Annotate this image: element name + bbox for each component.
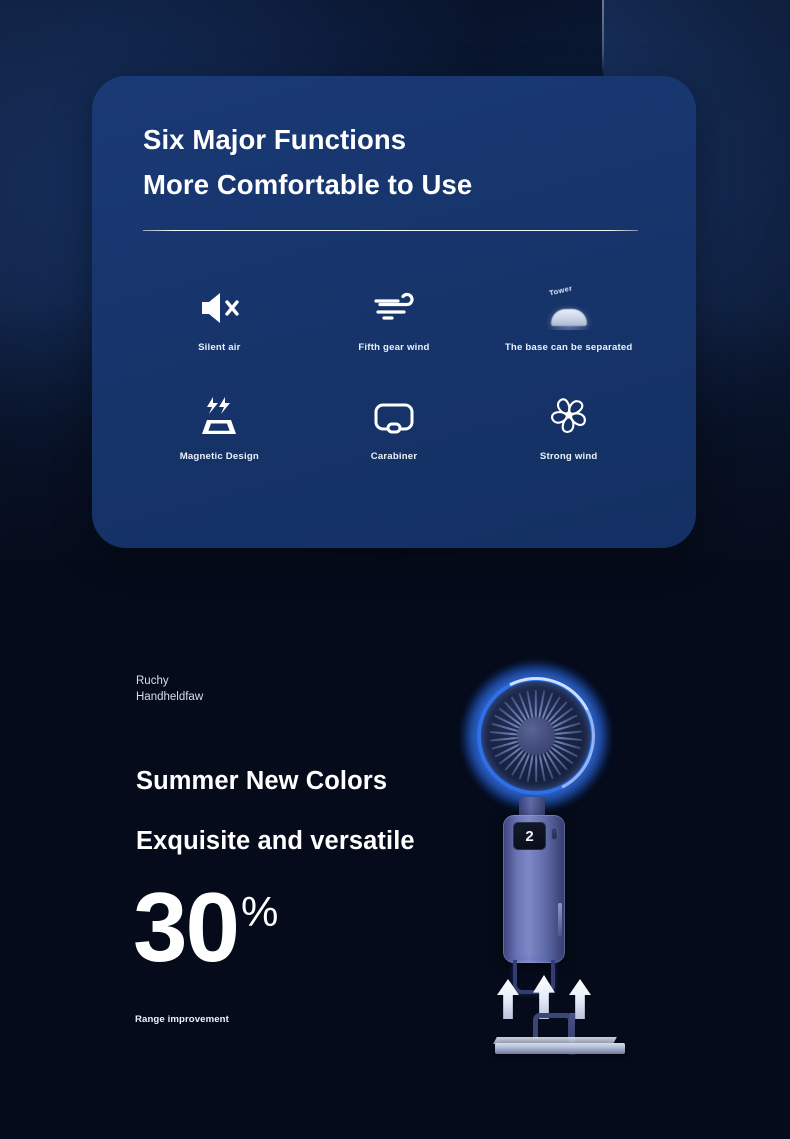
stat-block: 30 %	[133, 885, 278, 969]
detachable-base	[485, 1013, 635, 1061]
carabiner-icon	[371, 385, 417, 437]
promo-headline: Summer New Colors Exquisite and versatil…	[136, 752, 466, 872]
stat-unit: %	[241, 891, 278, 933]
wind-icon	[370, 272, 418, 328]
base-badge-label: Tower	[548, 283, 573, 297]
power-button-icon	[551, 827, 558, 840]
brand-line-1: Ruchy	[136, 674, 203, 690]
feature-item-fifth-gear-wind: Fifth gear wind	[307, 272, 482, 353]
features-grid: Silent air Fifth gear wind Tower	[132, 272, 656, 462]
product-image: 2	[455, 655, 665, 1065]
speed-display-value: 2	[525, 829, 533, 844]
feature-label: The base can be separated	[505, 342, 633, 353]
promo-headline-line-2: Exquisite and versatile	[136, 812, 466, 872]
fan-blades-icon	[547, 385, 591, 437]
card-title-line-2: More Comfortable to Use	[143, 163, 663, 208]
feature-label: Carabiner	[371, 451, 418, 462]
feature-item-carabiner: Carabiner	[307, 385, 482, 462]
speed-display: 2	[513, 822, 546, 850]
stat-caption: Range improvement	[135, 1014, 229, 1025]
feature-label: Fifth gear wind	[358, 342, 429, 353]
feature-item-magnetic-design: Magnetic Design	[132, 385, 307, 462]
title-divider	[143, 230, 638, 231]
detachable-base-icon: Tower	[543, 272, 595, 328]
feature-item-silent-air: Silent air	[132, 272, 307, 353]
promo-headline-line-1: Summer New Colors	[136, 767, 387, 795]
feature-label: Magnetic Design	[180, 451, 259, 462]
card-title: Six Major Functions More Comfortable to …	[143, 118, 663, 207]
brand-line-2: Handheldfaw	[136, 690, 203, 706]
brand-name: Ruchy Handheldfaw	[136, 674, 203, 705]
mute-speaker-icon	[196, 272, 242, 328]
feature-item-strong-wind: Strong wind	[481, 385, 656, 462]
stat-number: 30	[133, 885, 238, 969]
base-plate	[495, 1043, 625, 1054]
feature-label: Strong wind	[540, 451, 598, 462]
feature-label: Silent air	[198, 342, 241, 353]
base-dome	[551, 309, 587, 326]
features-card: Six Major Functions More Comfortable to …	[92, 76, 696, 548]
card-title-line-1: Six Major Functions	[143, 124, 406, 155]
product-handle: 2	[503, 815, 565, 963]
feature-item-detachable-base: Tower The base can be separated	[481, 272, 656, 353]
handle-grip	[558, 903, 562, 937]
magnetic-icon	[196, 385, 242, 437]
base-bracket	[533, 1013, 573, 1039]
